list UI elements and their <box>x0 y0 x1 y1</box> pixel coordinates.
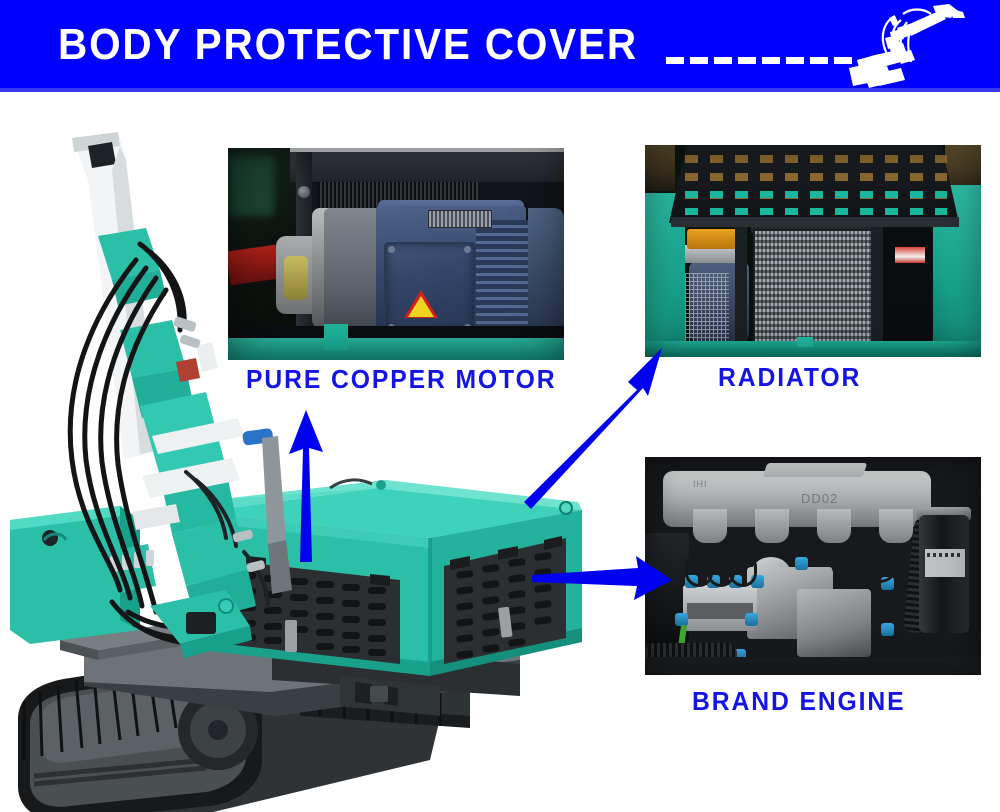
engine-blue-fitting <box>745 613 758 626</box>
radiator-teal-bottom <box>645 341 981 357</box>
engine-fuel-line <box>729 553 757 587</box>
photo-brand-engine: DD02 IHI <box>645 457 981 675</box>
title-dashes <box>666 57 856 64</box>
radiator-red-object <box>895 247 925 263</box>
radiator-ceiling-left <box>645 145 675 191</box>
engine-manifold-runner <box>693 509 727 543</box>
header-underline <box>0 88 1000 92</box>
radiator-bottom-notch <box>797 337 813 347</box>
engine-fuel-line <box>831 543 899 583</box>
drilling-rig-machine <box>0 120 620 812</box>
engine-manifold-text: DD02 <box>801 491 838 506</box>
engine-blue-fitting <box>881 623 894 636</box>
engine-blue-fitting <box>795 557 808 570</box>
engine-injector-block-lower <box>687 603 753 619</box>
drilling-rig-silhouette-icon <box>845 2 975 92</box>
engine-manifold-runner <box>879 509 913 543</box>
poster-root: BODY PROTECTIVE COVER <box>0 0 1000 812</box>
engine-oil-filter-label-text <box>927 553 963 557</box>
photo-radiator <box>645 145 981 357</box>
radiator-core <box>753 229 881 343</box>
engine-manifold-highlight <box>763 463 868 477</box>
radiator-hood-perforations-lower <box>679 191 947 215</box>
radiator-post-right <box>871 227 883 345</box>
caption-brand-engine: BRAND ENGINE <box>692 686 906 717</box>
engine-manifold-runner <box>755 509 789 543</box>
engine-manifold-text-small: IHI <box>693 479 708 489</box>
body-protective-cover <box>200 480 582 676</box>
radiator-fan-mesh <box>685 273 729 343</box>
header-bar: BODY PROTECTIVE COVER <box>0 0 1000 92</box>
caption-radiator: RADIATOR <box>718 362 861 393</box>
page-title: BODY PROTECTIVE COVER <box>58 22 638 68</box>
engine-governor-housing <box>797 589 871 657</box>
engine-manifold-runner <box>817 509 851 543</box>
radiator-post-left <box>735 227 747 345</box>
engine-bottom-dark <box>645 657 981 675</box>
radiator-hood-rail <box>671 217 959 227</box>
